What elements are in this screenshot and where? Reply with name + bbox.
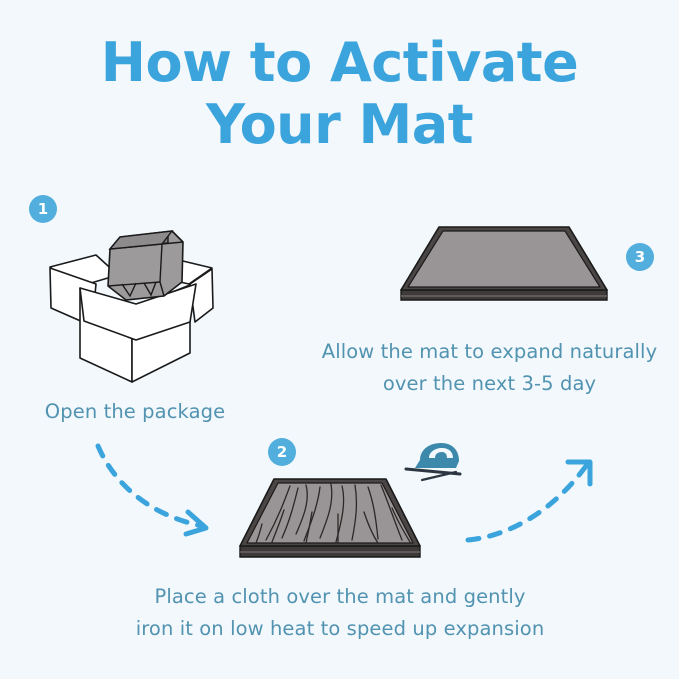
dashed-curved-arrow-up-right-icon — [462, 440, 607, 550]
dashed-curved-arrow-down-right-icon — [92, 440, 232, 550]
step-3-caption-line-2: over the next 3-5 day — [300, 368, 679, 400]
step-1-badge: 1 — [29, 195, 57, 223]
title-line-2: Your Mat — [0, 94, 679, 156]
step-2-caption-line-2: iron it on low heat to speed up expansio… — [110, 613, 570, 645]
step-1-caption-line-1: Open the package — [0, 396, 270, 428]
infographic-canvas: How to Activate Your Mat 1 — [0, 0, 679, 679]
step-3-caption: Allow the mat to expand naturally over t… — [300, 336, 679, 400]
step-2-badge: 2 — [268, 438, 296, 466]
flat-expanded-mat-illustration — [398, 218, 610, 310]
step-2-caption: Place a cloth over the mat and gently ir… — [110, 581, 570, 645]
page-title: How to Activate Your Mat — [0, 32, 679, 156]
step-3-badge: 3 — [626, 243, 654, 271]
step-3-caption-line-1: Allow the mat to expand naturally — [300, 336, 679, 368]
step-1-caption: Open the package — [0, 396, 270, 428]
rolled-mat-inside-box — [108, 231, 183, 300]
iron-icon — [396, 438, 464, 488]
step-2-caption-line-1: Place a cloth over the mat and gently — [110, 581, 570, 613]
title-line-1: How to Activate — [0, 32, 679, 94]
open-cardboard-box-illustration — [44, 222, 224, 387]
